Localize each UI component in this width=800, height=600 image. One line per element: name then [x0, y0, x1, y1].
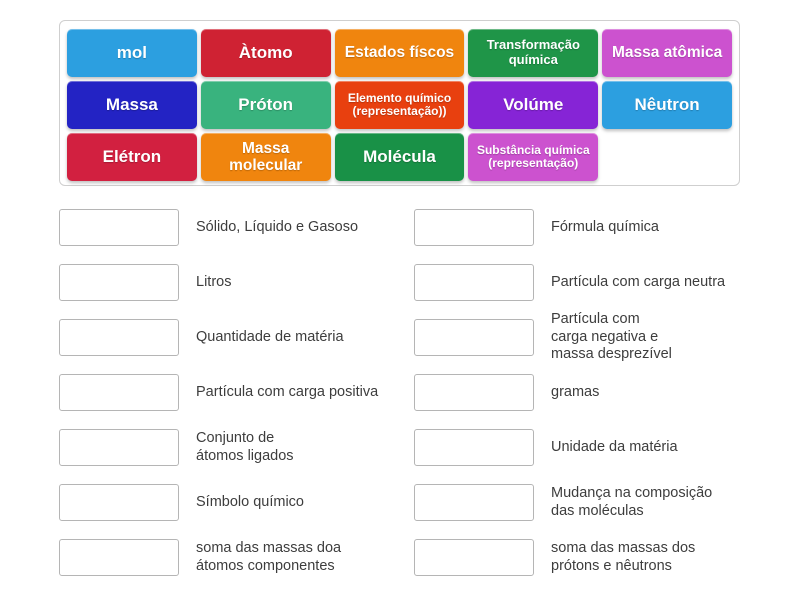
answer-row: Partícula com carga positiva — [0, 365, 400, 420]
answer-row: Quantidade de matéria — [0, 310, 400, 365]
answer-label: Unidade da matéria — [551, 439, 678, 457]
drop-target-box[interactable] — [59, 264, 179, 301]
drop-target-box[interactable] — [414, 209, 534, 246]
tile-row: ElétronMassa molecularMoléculaSubstância… — [67, 133, 732, 181]
drop-target-box[interactable] — [414, 429, 534, 466]
tile-row: molÀtomoEstados físcosTransformação quím… — [67, 29, 732, 77]
word-tile[interactable]: Volúme — [468, 81, 598, 129]
answer-label: Quantidade de matéria — [196, 329, 344, 347]
drop-target-box[interactable] — [59, 209, 179, 246]
answer-row: Partícula com carga neutra — [400, 255, 800, 310]
drop-target-box[interactable] — [59, 374, 179, 411]
answer-row: Partícula com carga negativa e massa des… — [400, 310, 800, 365]
drop-target-box[interactable] — [414, 484, 534, 521]
drop-target-box[interactable] — [414, 374, 534, 411]
word-tile[interactable]: Molécula — [335, 133, 465, 181]
tile-empty-slot — [602, 133, 732, 181]
word-tile[interactable]: Massa atômica — [602, 29, 732, 77]
answer-row: Litros — [0, 255, 400, 310]
answer-column-left: Sólido, Líquido e GasosoLitrosQuantidade… — [0, 200, 400, 585]
answer-label: Partícula com carga negativa e massa des… — [551, 311, 672, 364]
drop-target-box[interactable] — [414, 319, 534, 356]
answer-list: Sólido, Líquido e GasosoLitrosQuantidade… — [0, 200, 800, 585]
answer-label: Litros — [196, 274, 231, 292]
word-tile[interactable]: Estados físcos — [335, 29, 465, 77]
answer-row: Sólido, Líquido e Gasoso — [0, 200, 400, 255]
word-tile[interactable]: Transformação química — [468, 29, 598, 77]
word-tile[interactable]: Elemento químico (representação)) — [335, 81, 465, 129]
answer-label: Símbolo químico — [196, 494, 304, 512]
tile-grid: molÀtomoEstados físcosTransformação quím… — [67, 29, 732, 181]
answer-label: Conjunto de átomos ligados — [196, 430, 294, 465]
word-tile[interactable]: Àtomo — [201, 29, 331, 77]
word-tile[interactable]: Próton — [201, 81, 331, 129]
drop-target-box[interactable] — [414, 539, 534, 576]
answer-label: soma das massas doa átomos componentes — [196, 540, 341, 575]
answer-row: Fórmula química — [400, 200, 800, 255]
answer-label: Partícula com carga positiva — [196, 384, 378, 402]
answer-row: soma das massas doa átomos componentes — [0, 530, 400, 585]
word-tile[interactable]: Elétron — [67, 133, 197, 181]
answer-label: Fórmula química — [551, 219, 659, 237]
answer-label: gramas — [551, 384, 599, 402]
drop-target-box[interactable] — [59, 539, 179, 576]
word-tile[interactable]: Nêutron — [602, 81, 732, 129]
drop-target-box[interactable] — [59, 319, 179, 356]
word-tile-bank: molÀtomoEstados físcosTransformação quím… — [59, 20, 740, 186]
answer-label: Mudança na composição das moléculas — [551, 485, 712, 520]
drop-target-box[interactable] — [59, 484, 179, 521]
drop-target-box[interactable] — [59, 429, 179, 466]
answer-row: gramas — [400, 365, 800, 420]
answer-row: Unidade da matéria — [400, 420, 800, 475]
answer-row: Mudança na composição das moléculas — [400, 475, 800, 530]
word-tile[interactable]: mol — [67, 29, 197, 77]
drop-target-box[interactable] — [414, 264, 534, 301]
answer-label: Sólido, Líquido e Gasoso — [196, 219, 358, 237]
tile-row: MassaPrótonElemento químico (representaç… — [67, 81, 732, 129]
word-tile[interactable]: Substância química (representação) — [468, 133, 598, 181]
answer-label: Partícula com carga neutra — [551, 274, 725, 292]
answer-label: soma das massas dos prótons e nêutrons — [551, 540, 695, 575]
answer-column-right: Fórmula químicaPartícula com carga neutr… — [400, 200, 800, 585]
answer-row: Conjunto de átomos ligados — [0, 420, 400, 475]
word-tile[interactable]: Massa molecular — [201, 133, 331, 181]
answer-row: soma das massas dos prótons e nêutrons — [400, 530, 800, 585]
answer-row: Símbolo químico — [0, 475, 400, 530]
word-tile[interactable]: Massa — [67, 81, 197, 129]
